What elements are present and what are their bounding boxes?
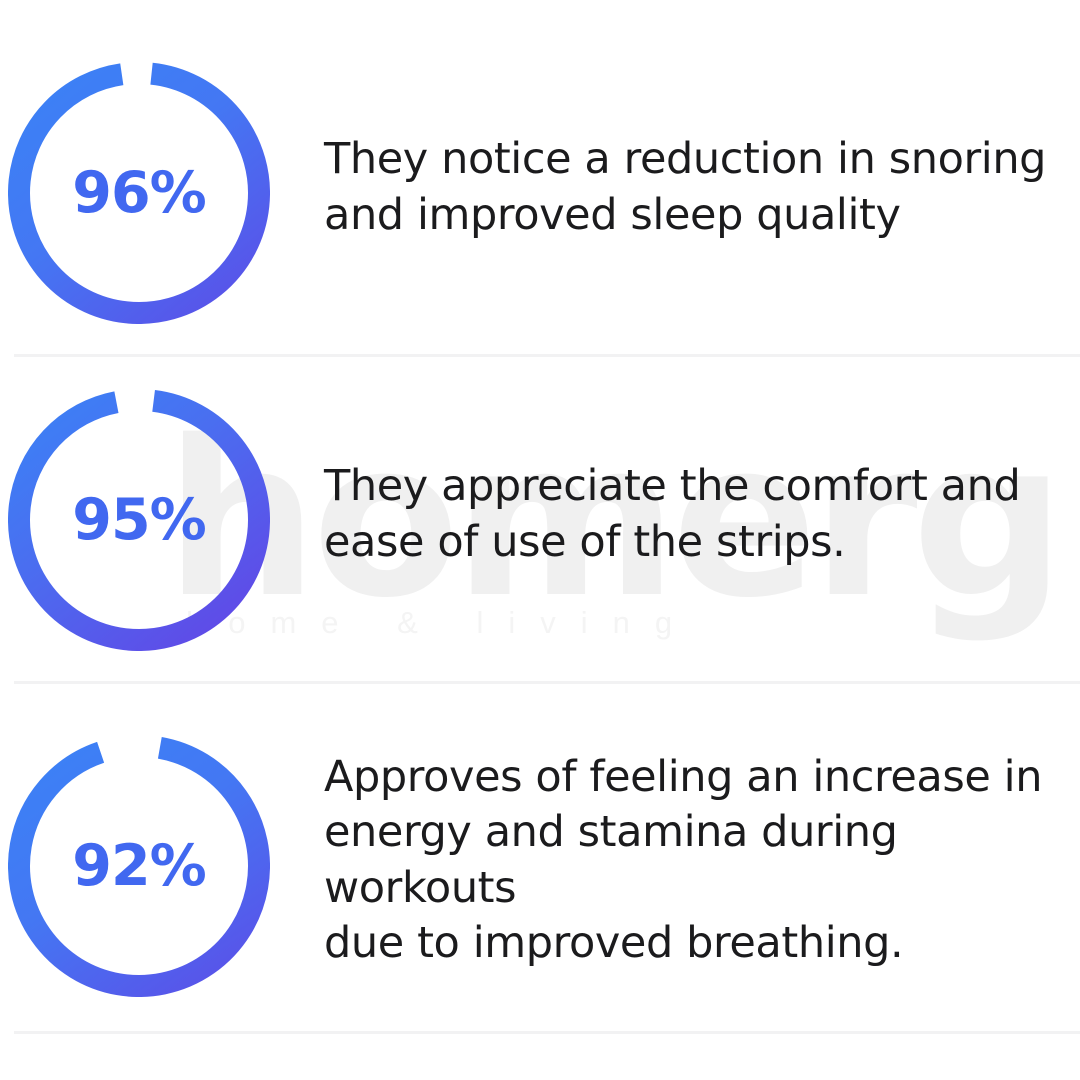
stat-description: Approves of feeling an increase in energ…: [324, 750, 1064, 970]
stat-description: They notice a reduction in snoring and i…: [324, 132, 1046, 242]
stat-row: 96% They notice a reduction in snoring a…: [0, 45, 1080, 330]
donut-chart-96: 96%: [8, 53, 270, 323]
donut-value-label: 96%: [8, 62, 270, 324]
stat-row: 95% They appreciate the comfort and ease…: [0, 372, 1080, 657]
row-divider: [14, 1031, 1080, 1034]
donut-value-label: 95%: [8, 389, 270, 651]
donut-value-label: 92%: [8, 735, 270, 997]
row-divider: [14, 681, 1080, 684]
donut-chart-92: 92%: [8, 726, 270, 996]
stat-description: They appreciate the comfort and ease of …: [324, 459, 1020, 569]
stat-row: 92% Approves of feeling an increase in e…: [0, 718, 1080, 1003]
donut-chart-95: 95%: [8, 380, 270, 650]
row-divider: [14, 354, 1080, 357]
